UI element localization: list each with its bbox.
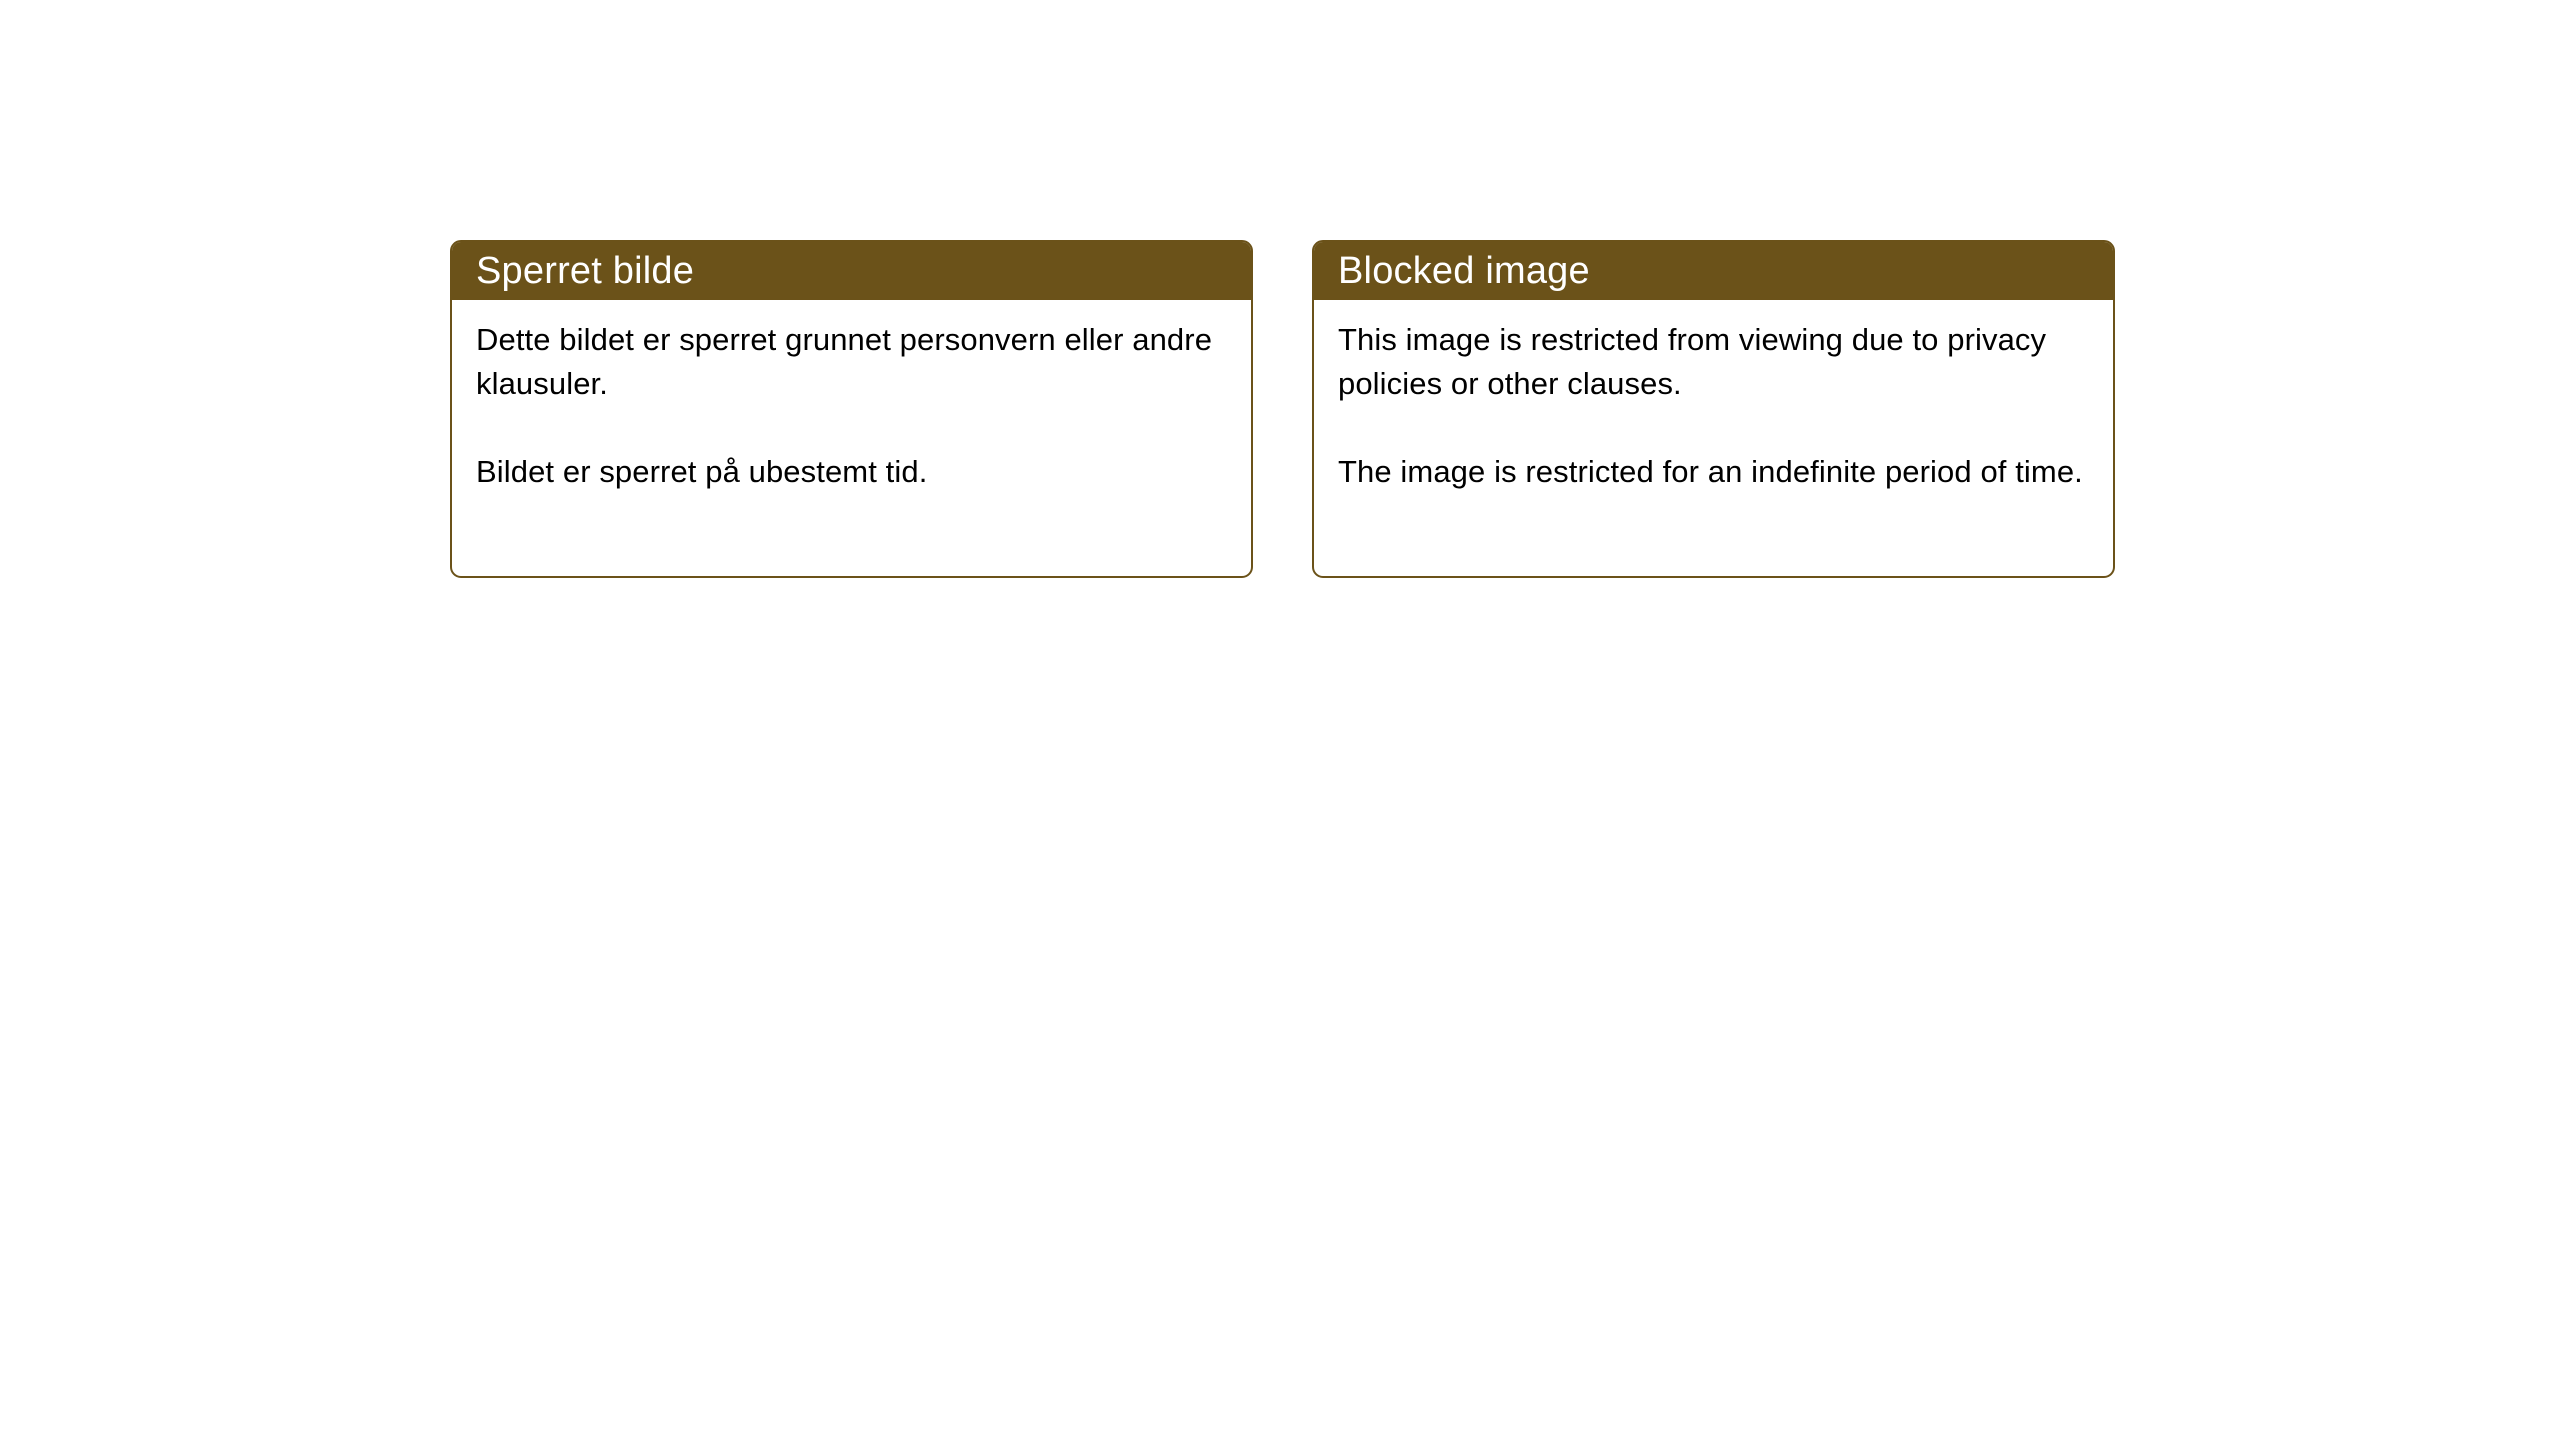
card-paragraph-primary-norwegian: Dette bildet er sperret grunnet personve… [476,318,1229,406]
card-paragraph-secondary-english: The image is restricted for an indefinit… [1338,450,2091,494]
page-canvas: Sperret bilde Dette bildet er sperret gr… [0,0,2560,1440]
card-paragraph-secondary-norwegian: Bildet er sperret på ubestemt tid. [476,450,1229,494]
card-body-norwegian: Dette bildet er sperret grunnet personve… [452,300,1251,494]
card-body-english: This image is restricted from viewing du… [1314,300,2113,494]
blocked-image-notice-card-norwegian: Sperret bilde Dette bildet er sperret gr… [450,240,1253,578]
blocked-image-notice-card-english: Blocked image This image is restricted f… [1312,240,2115,578]
card-header-norwegian: Sperret bilde [452,242,1251,300]
card-title-english: Blocked image [1338,252,1590,290]
paragraph-spacer [476,406,1229,450]
card-paragraph-primary-english: This image is restricted from viewing du… [1338,318,2091,406]
card-header-english: Blocked image [1314,242,2113,300]
card-title-norwegian: Sperret bilde [476,252,694,290]
paragraph-spacer [1338,406,2091,450]
